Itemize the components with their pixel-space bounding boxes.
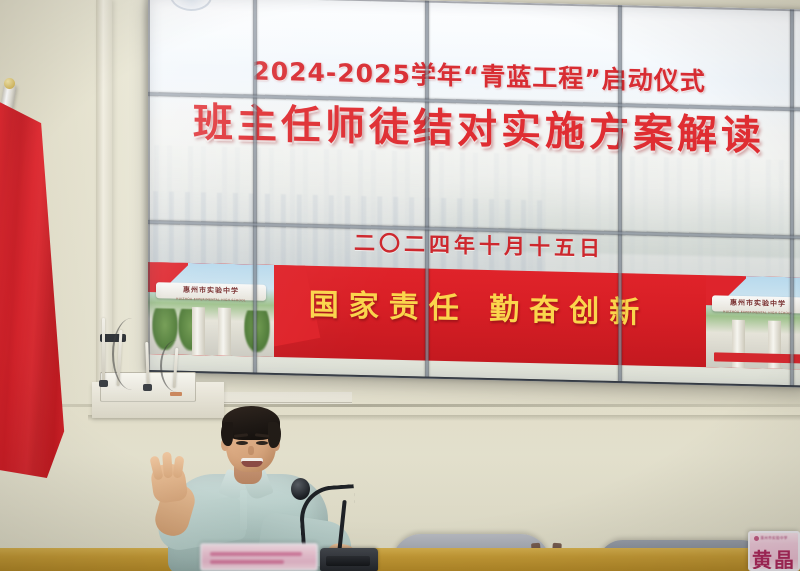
speaker-mouth <box>241 458 263 467</box>
microphone-base-panel <box>326 556 370 566</box>
antenna-base-1 <box>99 380 108 387</box>
receiver-led-indicator <box>170 392 182 396</box>
speaker-shirt-placket <box>240 490 247 530</box>
nameplate-person-name: 黄晶 <box>750 544 798 571</box>
speaker-nameplate <box>200 543 318 571</box>
speaker-finger-2 <box>162 452 173 479</box>
nameplate-school-header: 惠州市实验中学 <box>750 536 798 541</box>
speaker-nose <box>248 446 254 455</box>
gate-welcome-banner <box>714 353 800 364</box>
microphone-capsule-icon <box>291 478 310 500</box>
school-gate-photo-right: 惠州市实验中学 HUIZHOU EXPERIMENTAL HIGH SCHOOL <box>706 275 800 369</box>
video-wall-display[interactable]: 2024-2025学年“青蓝工程”启动仪式 班主任师徒结对实施方案解读 二〇二四… <box>148 0 800 388</box>
school-gate-photo-left: 惠州市实验中学 HUIZHOU EXPERIMENTAL HIGH SCHOOL <box>148 262 274 357</box>
av-cable-2 <box>160 340 194 392</box>
conference-table <box>0 548 800 571</box>
speaker-eye-left <box>236 441 248 445</box>
antenna-base-3 <box>143 384 152 391</box>
flag-pole-finial <box>4 78 15 89</box>
antenna-1 <box>102 318 105 384</box>
photo-scene: 2024-2025学年“青蓝工程”启动仪式 班主任师徒结对实施方案解读 二〇二四… <box>0 0 800 571</box>
speaker-eye-right <box>256 441 268 445</box>
gate-school-name-en-right: HUIZHOU EXPERIMENTAL HIGH SCHOOL <box>706 309 800 315</box>
av-cable-1 <box>112 318 152 390</box>
slide-red-banner: 国家责任 勤奋创新 惠州市实验中学 HUIZHOU EXPERIMENTAL H… <box>148 262 800 370</box>
right-nameplate: 惠州市实验中学 黄晶 <box>748 531 800 571</box>
